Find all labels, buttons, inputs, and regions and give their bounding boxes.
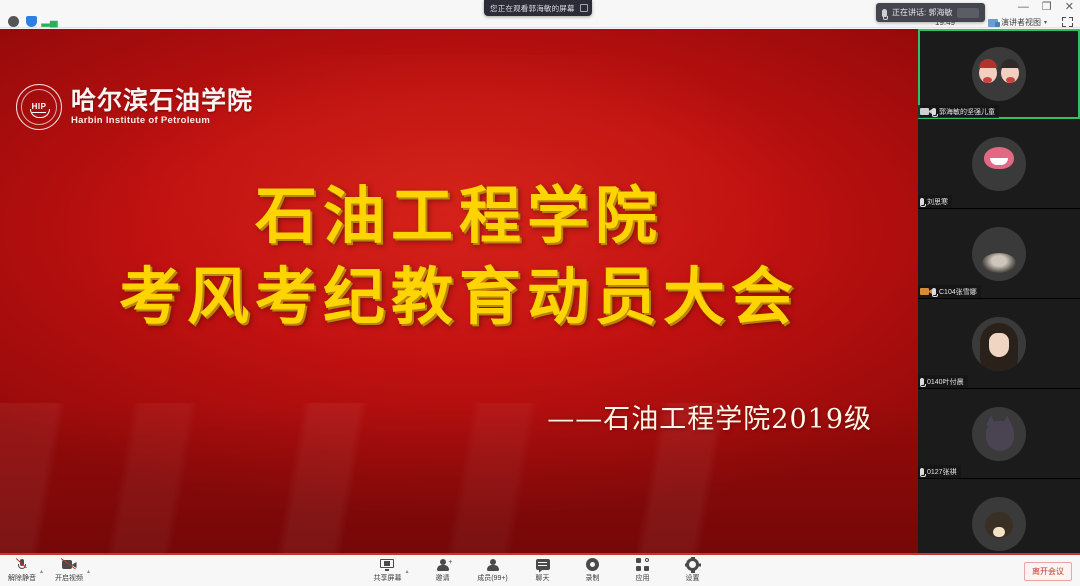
- settings-button[interactable]: 设置: [677, 557, 709, 583]
- participant-nameplate: 0140叶付晨: [918, 375, 968, 388]
- apps-grid-icon: [636, 558, 649, 571]
- invite-person-icon: +: [436, 559, 450, 571]
- participant-tile[interactable]: C104张雪娜: [918, 209, 1080, 299]
- invite-label: 邀请: [436, 573, 450, 583]
- participant-tile[interactable]: 0140叶付晨: [918, 299, 1080, 389]
- participant-tile[interactable]: 刘思寒: [918, 119, 1080, 209]
- participant-tile[interactable]: 郭海敏的坚强儿童: [918, 29, 1080, 119]
- mic-icon: [920, 468, 924, 475]
- mic-icon: [920, 198, 924, 205]
- participant-nameplate: C104张雪娜: [918, 285, 981, 298]
- participant-name: 郭海敏的坚强儿童: [939, 107, 995, 117]
- seal-bowl-shape: [30, 109, 50, 118]
- logo-english-name: Harbin Institute of Petroleum: [71, 115, 253, 126]
- shield-icon[interactable]: [26, 16, 37, 27]
- camera-on-icon: [920, 108, 929, 115]
- share-screen-label: 共享屏幕: [373, 573, 401, 583]
- university-logo: HIP 哈尔滨石油学院 Harbin Institute of Petroleu…: [16, 84, 253, 130]
- participant-name: 0127张祺: [927, 467, 957, 477]
- share-screen-button[interactable]: 共享屏幕: [371, 557, 403, 583]
- settings-label: 设置: [686, 573, 700, 583]
- mic-icon: [932, 288, 936, 295]
- fullscreen-icon[interactable]: [1062, 17, 1073, 27]
- presentation-slide: HIP 哈尔滨石油学院 Harbin Institute of Petroleu…: [0, 29, 918, 553]
- long-hair-girl-avatar: [972, 317, 1026, 371]
- chevron-up-icon[interactable]: ▴: [405, 568, 408, 583]
- mic-icon: [920, 378, 924, 385]
- camera-muted-icon: [920, 288, 929, 295]
- yellow-pet-avatar: [972, 497, 1026, 551]
- chevron-down-icon: ▾: [1044, 19, 1047, 26]
- invite-button[interactable]: + 邀请: [427, 557, 459, 583]
- meeting-window: ▂▄ — ❐ ✕ 19:49 演讲者视图 ▾ 您正在观看郭海敏的屏幕 正在讲话:…: [0, 0, 1080, 586]
- participants-button[interactable]: 成员(99+): [477, 557, 509, 583]
- apps-button[interactable]: 应用: [627, 557, 659, 583]
- minimize-button[interactable]: —: [1018, 1, 1029, 13]
- stop-share-icon[interactable]: [580, 4, 588, 12]
- participant-tile[interactable]: 0127张祺: [918, 389, 1080, 479]
- toolbar-center-group: 共享屏幕 ▴ + 邀请 成员(99+) 聊天 录制: [0, 557, 1080, 583]
- close-button[interactable]: ✕: [1065, 1, 1074, 13]
- share-status-banner: 您正在观看郭海敏的屏幕: [484, 0, 592, 16]
- maximize-button[interactable]: ❐: [1042, 1, 1052, 13]
- participant-nameplate: 刘思寒: [918, 195, 952, 208]
- dark-cat-avatar: [972, 407, 1026, 461]
- participants-label: 成员(99+): [477, 573, 508, 583]
- participant-filmstrip[interactable]: 郭海敏的坚强儿童 刘思寒 C104张雪娜: [918, 29, 1080, 553]
- record-label: 录制: [586, 573, 600, 583]
- mic-icon: [882, 9, 887, 17]
- speaker-view-icon: [988, 19, 998, 27]
- shared-screen-stage[interactable]: HIP 哈尔滨石油学院 Harbin Institute of Petroleu…: [0, 29, 918, 553]
- slide-subtitle: ——石油工程学院2019级: [547, 397, 872, 436]
- two-kids-avatar: [972, 47, 1026, 101]
- chat-icon: [536, 559, 550, 570]
- participant-name: 刘思寒: [927, 197, 948, 207]
- slide-title-block: 石油工程学院 考风考纪教育动员大会: [0, 179, 918, 333]
- speaking-text: 正在讲话: 郭海敏: [892, 7, 952, 18]
- chat-label: 聊天: [536, 573, 550, 583]
- participant-nameplate: 0127张祺: [918, 465, 961, 478]
- signal-bars-icon[interactable]: ▂▄: [44, 16, 55, 27]
- meeting-toolbar: 解除静音 ▴ 开启视频 ▴ 共享屏幕 ▴ +: [0, 553, 1080, 586]
- gear-icon: [686, 558, 699, 571]
- participant-nameplate: 郭海敏的坚强儿童: [918, 105, 999, 118]
- record-icon: [586, 558, 599, 571]
- seal-icon: HIP: [16, 84, 62, 130]
- window-controls: — ❐ ✕: [1018, 1, 1074, 13]
- record-button[interactable]: 录制: [577, 557, 609, 583]
- view-selector[interactable]: 演讲者视图 ▾: [988, 17, 1047, 28]
- system-tray: ▂▄: [8, 16, 55, 27]
- slide-title-line-2: 考风考纪教育动员大会: [0, 260, 918, 333]
- view-selector-label: 演讲者视图: [1001, 17, 1041, 28]
- speaking-indicator: 正在讲话: 郭海敏: [876, 3, 985, 22]
- fur-texture-avatar: [972, 227, 1026, 281]
- participant-name: 0140叶付晨: [927, 377, 964, 387]
- apps-label: 应用: [636, 573, 650, 583]
- pink-lips-avatar: [972, 137, 1026, 191]
- audio-waveform-icon: [957, 8, 979, 18]
- share-status-text: 您正在观看郭海敏的屏幕: [490, 3, 575, 14]
- participant-name: C104张雪娜: [939, 287, 977, 297]
- mic-icon: [932, 108, 936, 115]
- circle-dark-icon[interactable]: [8, 16, 19, 27]
- share-screen-group[interactable]: 共享屏幕 ▴: [371, 557, 408, 583]
- chat-button[interactable]: 聊天: [527, 557, 559, 583]
- participants-icon: [486, 559, 500, 571]
- share-screen-icon: [380, 559, 394, 571]
- leave-meeting-button[interactable]: 离开会议: [1024, 562, 1072, 581]
- slide-title-line-1: 石油工程学院: [0, 179, 918, 252]
- logo-chinese-name: 哈尔滨石油学院: [71, 88, 253, 114]
- participant-tile[interactable]: [918, 479, 1080, 553]
